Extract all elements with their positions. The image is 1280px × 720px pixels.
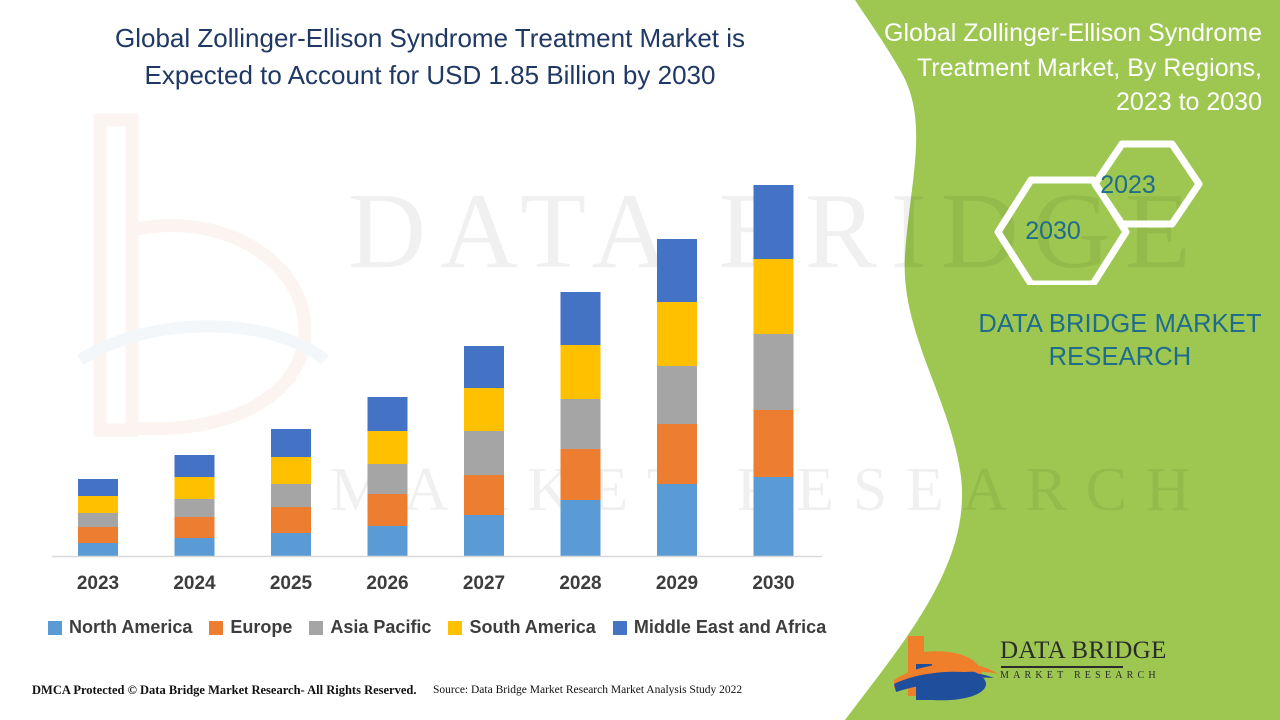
x-axis-tick-label: 2024 (160, 573, 230, 595)
x-axis-tick-label: 2027 (449, 573, 519, 595)
x-axis-tick-label: 2025 (256, 573, 326, 595)
logo-wordmark: DATA BRIDGE MARKET RESEARCH (1000, 638, 1180, 681)
legend-item[interactable]: Europe (209, 617, 292, 638)
footer-copyright: DMCA Protected © Data Bridge Market Rese… (32, 683, 417, 698)
legend-swatch-icon (209, 621, 223, 635)
bar-segment (657, 366, 697, 424)
bar-segment (271, 484, 311, 507)
legend-item-label: Asia Pacific (330, 617, 431, 638)
bar-segment (78, 496, 118, 513)
hexagon-2023-label: 2023 (1093, 171, 1163, 200)
bar-segment (657, 424, 697, 484)
bar-segment (657, 239, 697, 302)
bar-segment (464, 388, 504, 431)
legend-swatch-icon (309, 621, 323, 635)
chart-plot-area (0, 0, 840, 600)
bar-segment (464, 431, 504, 475)
bar-segment (175, 499, 215, 517)
logo-subtitle: MARKET RESEARCH (1000, 670, 1180, 681)
bar-segment (464, 515, 504, 556)
bar-segment (175, 477, 215, 499)
bar-segment (78, 513, 118, 527)
x-axis-tick-label: 2026 (353, 573, 423, 595)
hexagon-badges (960, 140, 1210, 285)
bar-segment (561, 500, 601, 556)
legend-swatch-icon (613, 621, 627, 635)
infographic-root: DATA BRIDGE MARKET RESEARCH Global Zolli… (0, 0, 1280, 720)
bar-segment (561, 345, 601, 399)
panel-title: Global Zollinger-Ellison Syndrome Treatm… (862, 16, 1262, 120)
bar-segment (657, 302, 697, 366)
bar-segment (271, 429, 311, 457)
bar-segment (561, 292, 601, 345)
bar-segment (368, 494, 408, 526)
legend-item-label: Europe (230, 617, 292, 638)
bar-segment (464, 475, 504, 515)
bar-segment (271, 533, 311, 556)
x-axis-tick-label: 2030 (739, 573, 809, 595)
bar-segment (368, 431, 408, 464)
bar-segment (78, 527, 118, 543)
bar-segment (175, 538, 215, 556)
bar-segment (175, 455, 215, 477)
bar-segment (657, 484, 697, 556)
logo-name: DATA BRIDGE (1000, 638, 1180, 664)
x-axis-tick-label: 2029 (642, 573, 712, 595)
hexagon-2030-label: 2030 (1017, 217, 1089, 246)
bar-segment (561, 399, 601, 449)
bar-segment (561, 449, 601, 500)
bar-segment (754, 410, 794, 477)
bar-segment (368, 397, 408, 431)
legend-item[interactable]: Asia Pacific (309, 617, 431, 638)
bar-segment (368, 526, 408, 556)
legend-swatch-icon (48, 621, 62, 635)
chart-legend: North AmericaEuropeAsia PacificSouth Ame… (48, 617, 838, 638)
bar-segment (754, 477, 794, 556)
legend-item[interactable]: South America (448, 617, 595, 638)
bar-segment (78, 543, 118, 556)
legend-item[interactable]: Middle East and Africa (613, 617, 826, 638)
bar-segment (78, 479, 118, 496)
legend-item-label: Middle East and Africa (634, 617, 826, 638)
legend-item-label: South America (469, 617, 595, 638)
bar-segment (754, 334, 794, 410)
legend-item-label: North America (69, 617, 192, 638)
legend-item[interactable]: North America (48, 617, 192, 638)
x-axis-tick-label: 2028 (546, 573, 616, 595)
panel-brand-text: DATA BRIDGE MARKET RESEARCH (960, 308, 1280, 373)
bar-segment (754, 259, 794, 334)
bar-segment (368, 464, 408, 494)
bar-segment (754, 185, 794, 259)
stacked-bar-chart: 20232024202520262027202820292030 (0, 0, 840, 600)
legend-swatch-icon (448, 621, 462, 635)
x-axis-tick-label: 2023 (63, 573, 133, 595)
bar-segment (464, 346, 504, 388)
footer-source: Source: Data Bridge Market Research Mark… (433, 684, 742, 696)
logo-divider (1001, 666, 1123, 668)
bars-group (78, 185, 794, 556)
bar-segment (271, 457, 311, 484)
bar-segment (271, 507, 311, 533)
bar-segment (175, 517, 215, 538)
